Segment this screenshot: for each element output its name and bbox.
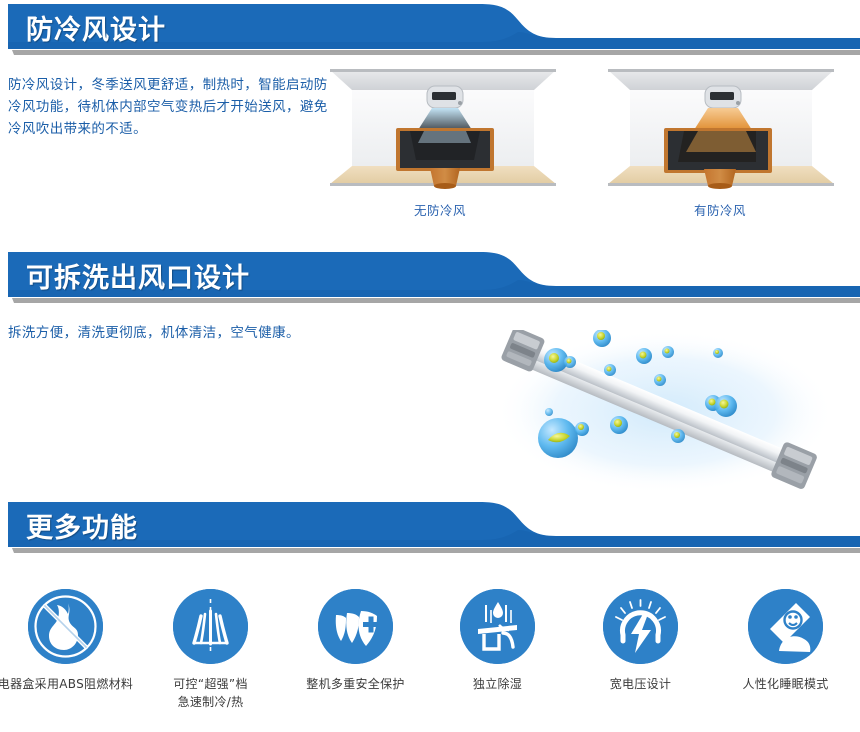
feature-label: 整机多重安全保护: [284, 675, 427, 693]
feature-item-turbo-airflow[interactable]: 可控“超强”档 急速制冷/热: [139, 589, 282, 711]
feature-item-safety-protection[interactable]: 整机多重安全保护: [284, 589, 427, 693]
feature-item-sleep-mode[interactable]: 人性化睡眠模式: [714, 589, 857, 693]
feature-label: 宽电压设计: [569, 675, 712, 693]
section-banner-3: 更多功能: [0, 500, 860, 556]
feature-label: 独立除湿: [426, 675, 569, 693]
feature-item-fire-retardant[interactable]: 电器盒采用ABS阻燃材料: [0, 589, 137, 693]
shield-protection-icon: [318, 589, 393, 664]
dehumidify-icon: [460, 589, 535, 664]
section-1-body-text: 防冷风设计，冬季送风更舒适，制热时，智能启动防 冷风功能，待机体内部空气变热后才…: [8, 74, 338, 140]
section-title: 防冷风设计: [26, 8, 166, 47]
sleep-mode-icon: [748, 589, 823, 664]
section-title: 可拆洗出风口设计: [26, 256, 250, 295]
feature-label: 电器盒采用ABS阻燃材料: [0, 675, 137, 693]
caption-without-protection: 无防冷风: [360, 200, 520, 219]
feature-label: 人性化睡眠模式: [714, 675, 857, 693]
section-banner-2: 可拆洗出风口设计: [0, 250, 860, 306]
air-outlet-illustration: [450, 330, 860, 499]
section-banner-1: 防冷风设计: [0, 2, 860, 58]
room-illustration-with-protection: [606, 68, 836, 193]
turbo-airflow-icon: [173, 589, 248, 664]
feature-icon-row: 电器盒采用ABS阻燃材料 可控“超强”档 急速制冷/热: [0, 575, 860, 732]
product-feature-page: 防冷风设计 防冷风设计，冬季送风更舒适，制热时，智能启动防 冷风功能，待机体内部…: [0, 0, 860, 732]
room-illustration-without-protection: [328, 68, 558, 193]
feature-label: 可控“超强”档 急速制冷/热: [139, 675, 282, 711]
section-title: 更多功能: [26, 506, 138, 545]
feature-item-dehumidify[interactable]: 独立除湿: [426, 589, 569, 693]
fire-retardant-icon: [28, 589, 103, 664]
feature-item-wide-voltage[interactable]: 宽电压设计: [569, 589, 712, 693]
caption-with-protection: 有防冷风: [640, 200, 800, 219]
section-2-body-text: 拆洗方便，清洗更彻底，机体清洁，空气健康。: [8, 322, 468, 344]
wide-voltage-icon: [603, 589, 678, 664]
